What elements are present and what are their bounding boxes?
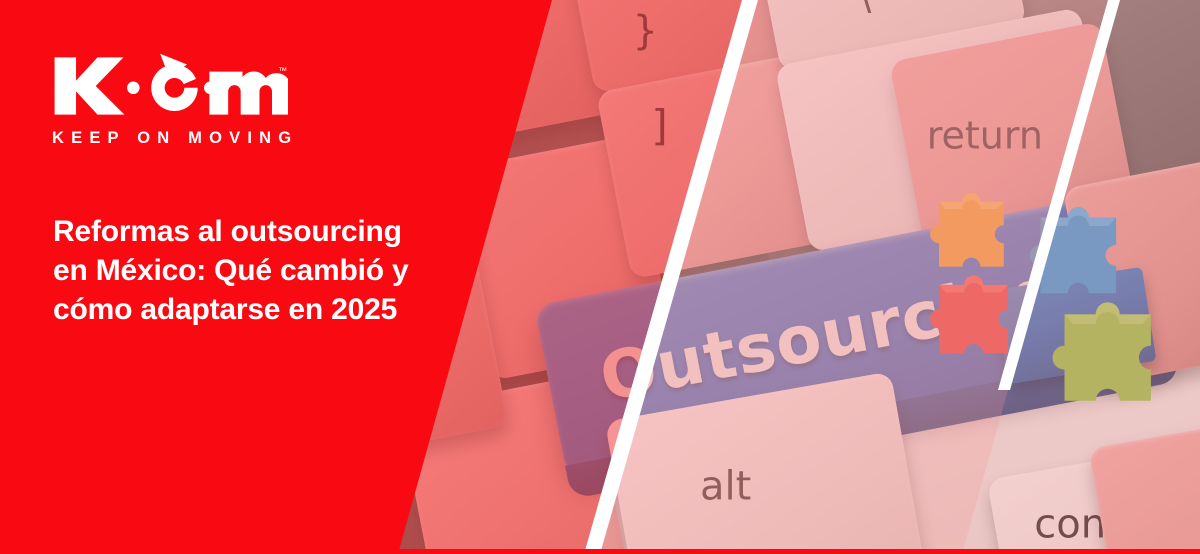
kom-logo-mark: ™ bbox=[52, 52, 288, 120]
bottom-accent-bar bbox=[0, 549, 1200, 554]
page-title-line-1: Reformas al outsourcing bbox=[53, 212, 453, 251]
page-title: Reformas al outsourcing en México: Qué c… bbox=[53, 212, 453, 329]
page-title-line-3: cómo adaptarse en 2025 bbox=[53, 290, 453, 329]
kom-tagline: KEEP ON MOVING bbox=[52, 129, 312, 148]
kom-logo[interactable]: ™ KEEP ON MOVING bbox=[52, 52, 312, 148]
svg-text:™: ™ bbox=[278, 65, 287, 75]
page-title-line-2: en México: Qué cambió y bbox=[53, 251, 453, 290]
blog-banner: } ] \ return Outsourcing alt contro bbox=[0, 0, 1200, 554]
